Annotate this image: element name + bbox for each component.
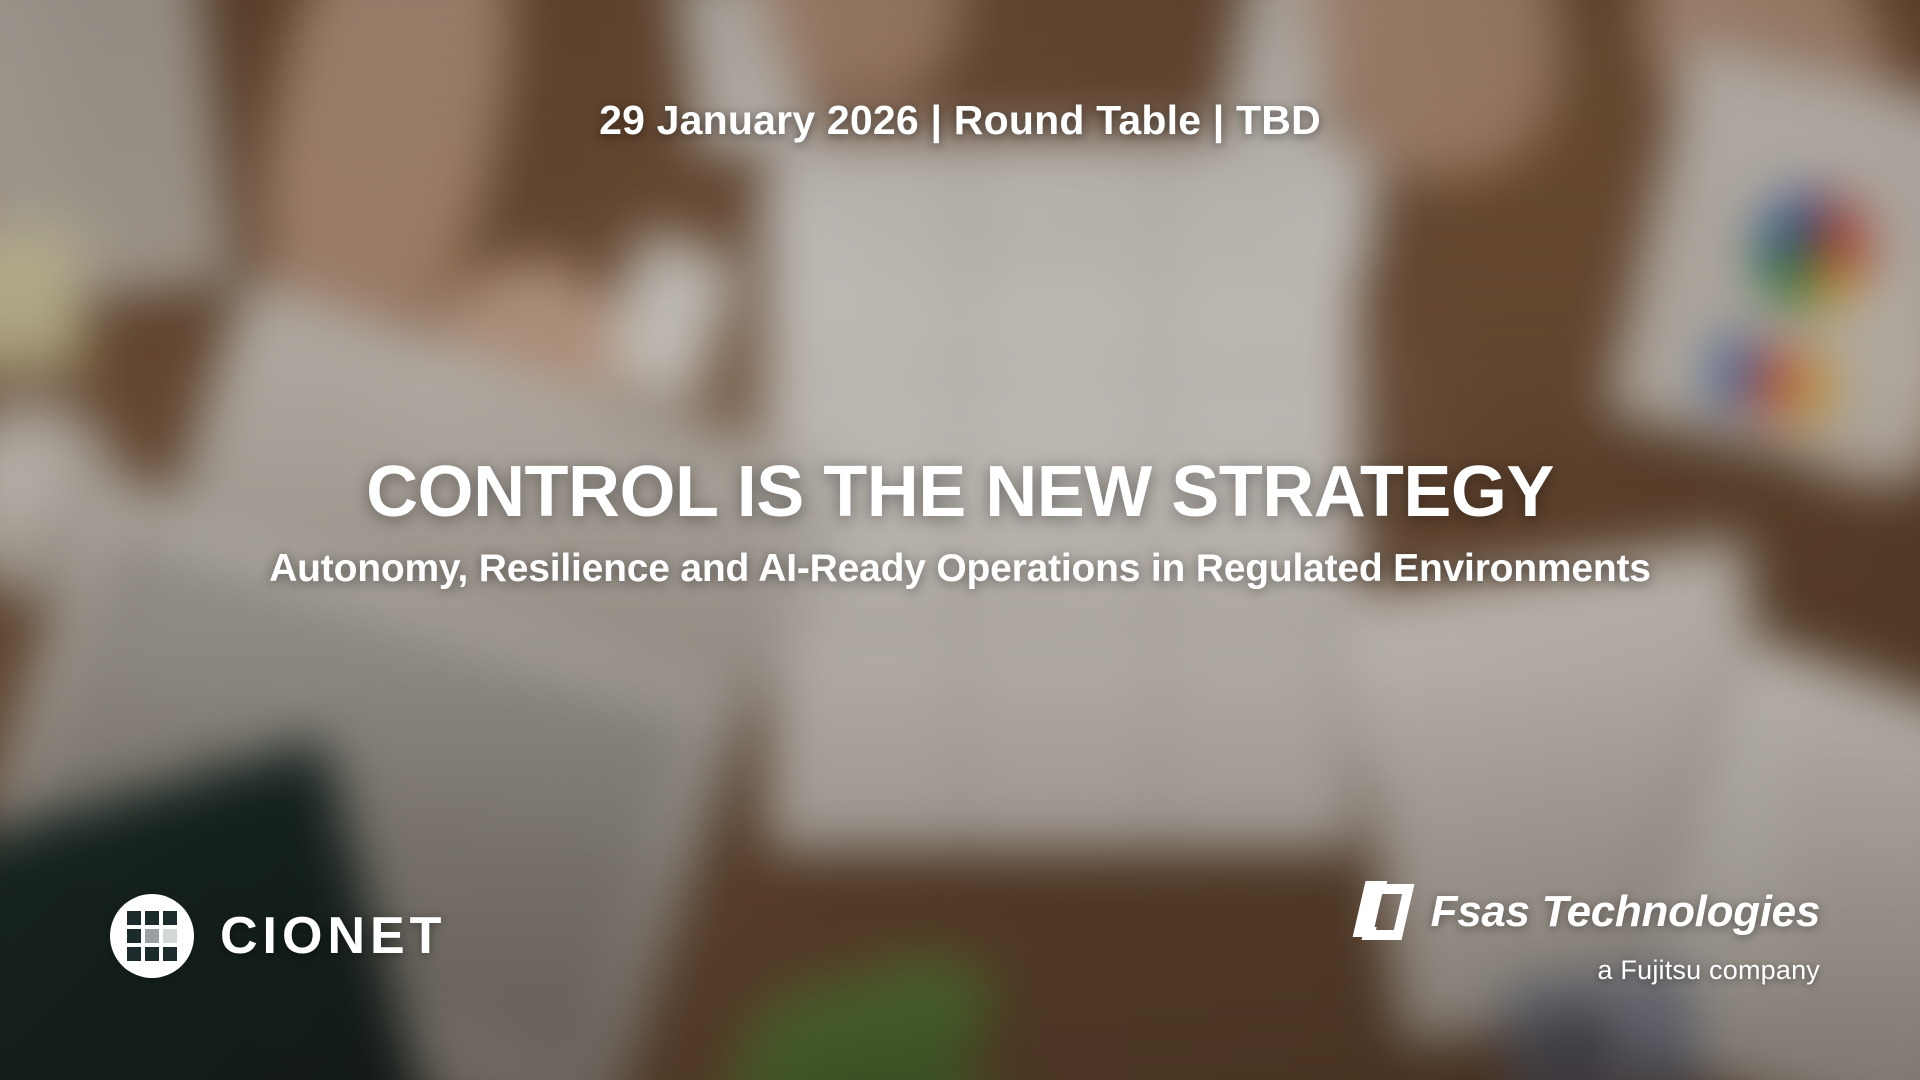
- cionet-wordmark: CIONET: [220, 910, 446, 962]
- fsas-technologies-logo: Fsas Technologies a Fujitsu company: [1359, 881, 1820, 984]
- grid-cell: [163, 947, 177, 961]
- grid-cell: [127, 947, 141, 961]
- page-subtitle: Autonomy, Resilience and AI-Ready Operat…: [0, 546, 1920, 593]
- grid-cell: [145, 929, 159, 943]
- page-title: CONTROL IS THE NEW STRATEGY: [0, 455, 1920, 530]
- banner-content: 29 January 2026 | Round Table | TBD CONT…: [0, 0, 1920, 1080]
- fsas-wordmark: Fsas Technologies: [1431, 890, 1820, 934]
- grid-cell: [145, 911, 159, 925]
- title-block: CONTROL IS THE NEW STRATEGY Autonomy, Re…: [0, 455, 1920, 593]
- event-details-line: 29 January 2026 | Round Table | TBD: [0, 97, 1920, 144]
- fsas-tagline: a Fujitsu company: [1359, 957, 1820, 984]
- cionet-grid-cells: [127, 911, 177, 961]
- grid-cell: [163, 911, 177, 925]
- grid-cell: [127, 929, 141, 943]
- grid-cell: [127, 911, 141, 925]
- fsas-parallelogram-icon: [1359, 881, 1411, 943]
- event-banner: 29 January 2026 | Round Table | TBD CONT…: [0, 0, 1920, 1080]
- cionet-grid-icon: [110, 894, 194, 978]
- grid-cell: [145, 947, 159, 961]
- cionet-logo: CIONET: [110, 894, 446, 978]
- fsas-logo-row: Fsas Technologies: [1359, 881, 1820, 943]
- grid-cell: [163, 929, 177, 943]
